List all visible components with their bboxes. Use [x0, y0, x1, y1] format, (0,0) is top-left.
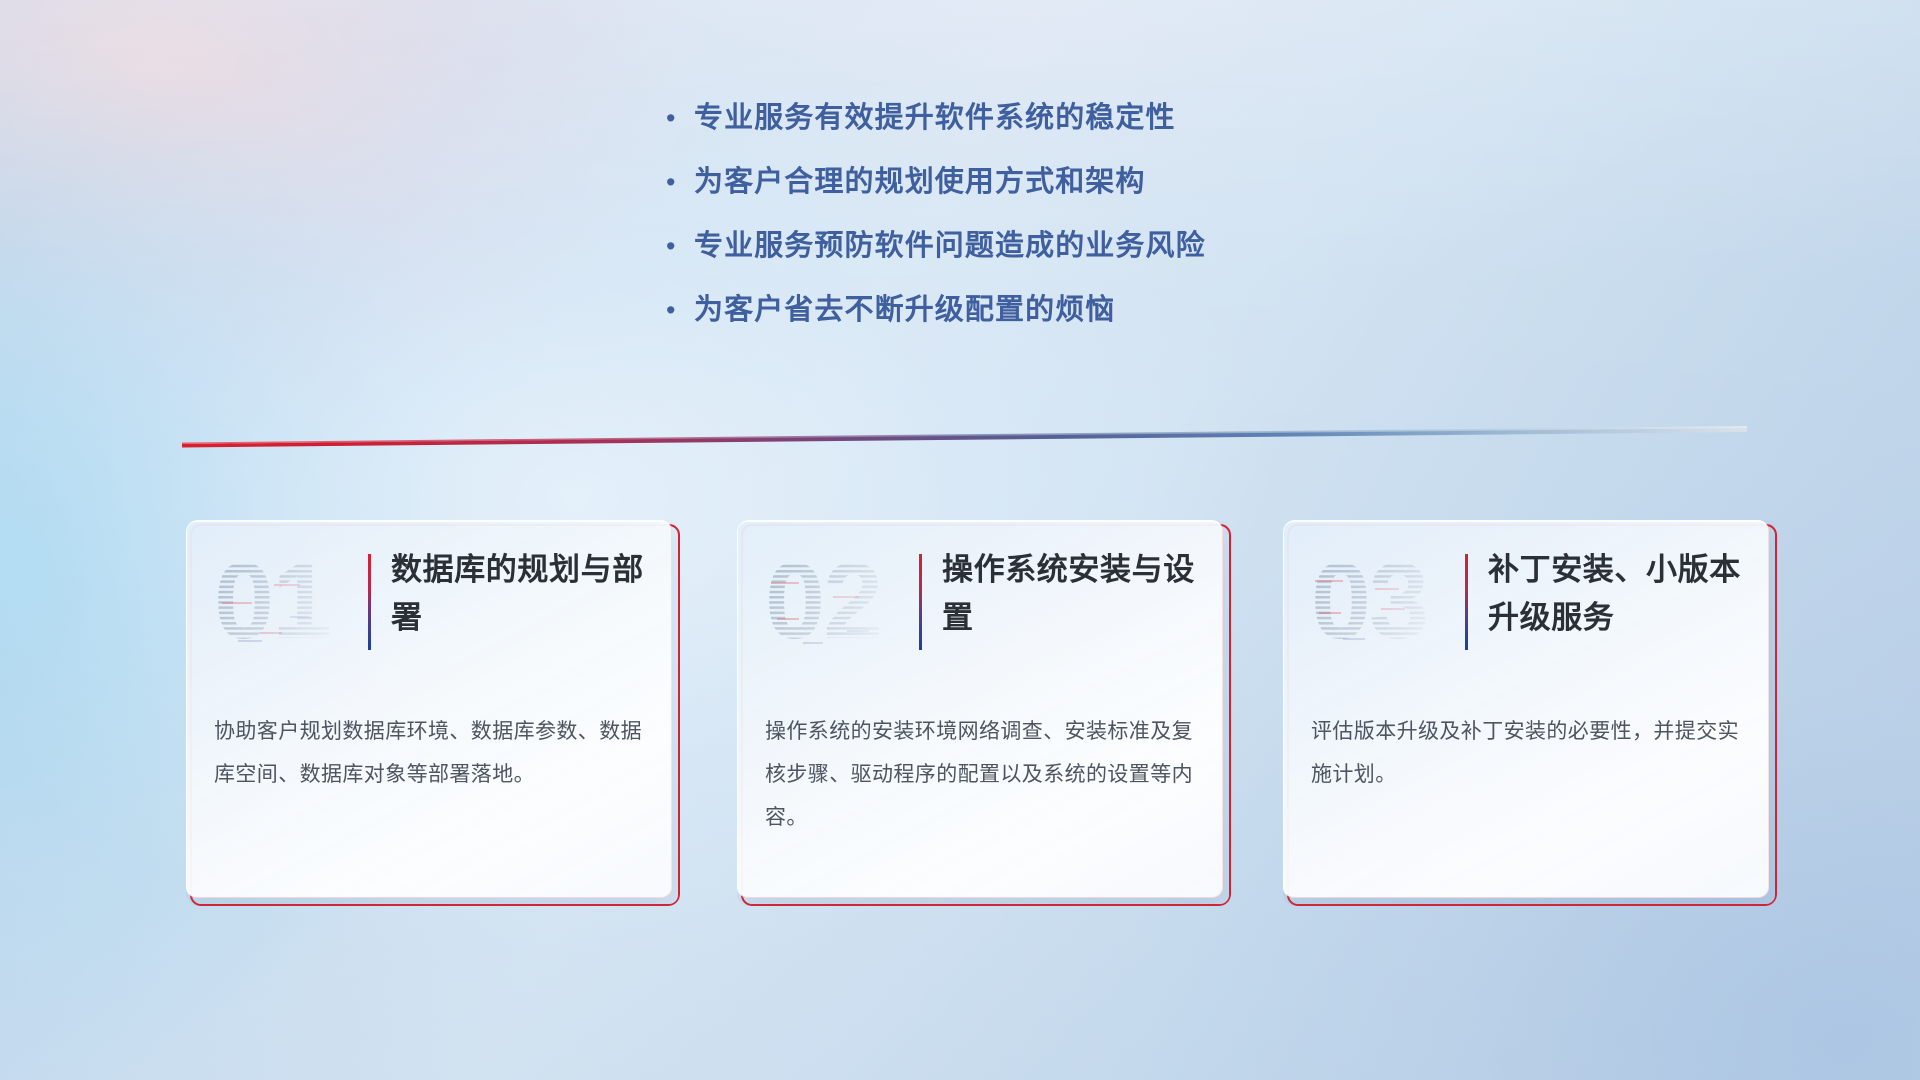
card-number-03-striped: 03 — [1309, 544, 1447, 660]
card-title: 操作系统安装与设置 — [942, 546, 1212, 642]
svg-text:03: 03 — [1311, 544, 1427, 660]
card-accent-bar — [1465, 554, 1468, 650]
bullet-item: • 专业服务有效提升软件系统的稳定性 — [660, 98, 1560, 162]
card-description: 协助客户规划数据库环境、数据库参数、数据库空间、数据库对象等部署落地。 — [214, 710, 650, 796]
bullet-label: 为客户省去不断升级配置的烦恼 — [694, 290, 1115, 330]
bullet-marker-icon: • — [660, 98, 694, 138]
slide-canvas: • 专业服务有效提升软件系统的稳定性 • 为客户合理的规划使用方式和架构 • 专… — [0, 0, 1920, 1080]
card-accent-bar — [919, 554, 922, 650]
benefit-bullet-list: • 专业服务有效提升软件系统的稳定性 • 为客户合理的规划使用方式和架构 • 专… — [660, 98, 1560, 354]
bullet-item: • 为客户合理的规划使用方式和架构 — [660, 162, 1560, 226]
card-accent-bar — [368, 554, 371, 650]
bullet-label: 专业服务预防软件问题造成的业务风险 — [694, 226, 1206, 266]
bullet-label: 为客户合理的规划使用方式和架构 — [694, 162, 1146, 202]
card-title: 补丁安装、小版本升级服务 — [1488, 546, 1758, 642]
svg-text:02: 02 — [765, 544, 881, 660]
bullet-label: 专业服务有效提升软件系统的稳定性 — [694, 98, 1176, 138]
bullet-marker-icon: • — [660, 162, 694, 202]
bullet-item: • 为客户省去不断升级配置的烦恼 — [660, 290, 1560, 354]
service-card-03[interactable]: 03 补丁安装、小版本升级服务 评估版本升级及补丁安装的必要性，并提交实施计划。 — [1283, 520, 1777, 906]
card-number-02-striped: 02 — [763, 544, 901, 660]
section-divider — [182, 424, 1747, 448]
card-number-01-striped: 01 — [212, 544, 350, 660]
card-title: 数据库的规划与部署 — [391, 546, 661, 642]
card-description: 评估版本升级及补丁安装的必要性，并提交实施计划。 — [1311, 710, 1747, 796]
bullet-marker-icon: • — [660, 226, 694, 266]
service-card-01[interactable]: 01 数据库的规划与部署 协助客户规划数据库环境、数据库参数、数据库空间、数据库… — [186, 520, 680, 906]
bullet-marker-icon: • — [660, 290, 694, 330]
card-description: 操作系统的安装环境网络调查、安装标准及复核步骤、驱动程序的配置以及系统的设置等内… — [765, 710, 1201, 839]
bullet-item: • 专业服务预防软件问题造成的业务风险 — [660, 226, 1560, 290]
service-card-02[interactable]: 02 操作系统安装与设置 操作系统的安装环境网络调查、安装标准及复核步骤、驱动程… — [737, 520, 1231, 906]
service-card-row: 01 数据库的规划与部署 协助客户规划数据库环境、数据库参数、数据库空间、数据库… — [0, 520, 1920, 940]
